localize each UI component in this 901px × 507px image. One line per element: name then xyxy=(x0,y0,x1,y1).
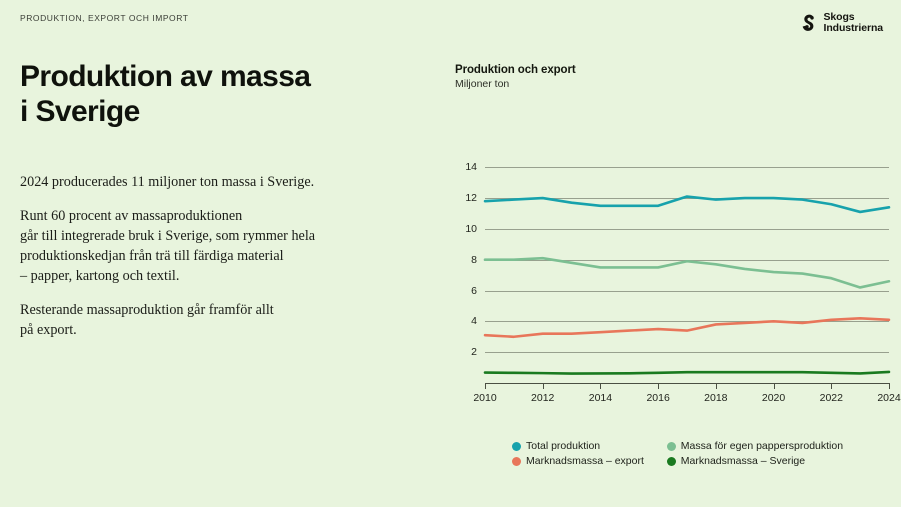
slide-eyebrow-label: PRODUKTION, EXPORT OCH IMPORT xyxy=(20,13,189,23)
x-axis-tick xyxy=(831,383,832,389)
chart-line-series xyxy=(485,372,889,374)
x-axis-tick xyxy=(716,383,717,389)
x-axis-tick-label: 2010 xyxy=(473,392,496,404)
legend-color-dot-icon xyxy=(667,457,676,466)
legend-item[interactable]: Marknadsmassa – Sverige xyxy=(667,455,852,467)
x-axis-tick xyxy=(600,383,601,389)
y-axis-tick-label: 8 xyxy=(455,254,477,266)
x-axis-tick-label: 2014 xyxy=(589,392,612,404)
legend-item[interactable]: Marknadsmassa – export xyxy=(512,455,653,467)
x-axis-tick xyxy=(658,383,659,389)
body-copy: 2024 producerades 11 miljoner ton massa … xyxy=(20,172,420,340)
legend-item-label: Massa för egen pappersproduktion xyxy=(681,440,843,452)
chart-line-series xyxy=(485,258,889,287)
chart-x-axis: 20102012201420162018202020222024 xyxy=(485,383,889,413)
body-paragraph-3: Resterande massaproduktion går framför a… xyxy=(20,300,420,340)
x-axis-tick xyxy=(485,383,486,389)
legend-color-dot-icon xyxy=(512,457,521,466)
x-axis-tick-label: 2012 xyxy=(531,392,554,404)
body-paragraph-2: Runt 60 procent av massaproduktionen går… xyxy=(20,206,420,286)
x-axis-tick-label: 2016 xyxy=(646,392,669,404)
chart-series-layer xyxy=(485,158,889,383)
page-title: Produktion av massa i Sverige xyxy=(20,60,310,130)
x-axis-tick xyxy=(543,383,544,389)
chart-legend: Total produktionMassa för egen papperspr… xyxy=(512,440,852,467)
body-paragraph-1: 2024 producerades 11 miljoner ton massa … xyxy=(20,172,420,192)
legend-item[interactable]: Total produktion xyxy=(512,440,653,452)
brand-logo: Skogs Industrierna xyxy=(799,12,883,33)
chart-plot-area: 2468101214 xyxy=(455,158,889,383)
legend-item-label: Marknadsmassa – export xyxy=(526,455,644,467)
legend-color-dot-icon xyxy=(512,442,521,451)
x-axis-tick-label: 2018 xyxy=(704,392,727,404)
legend-item-label: Marknadsmassa – Sverige xyxy=(681,455,805,467)
y-axis-tick-label: 4 xyxy=(455,315,477,327)
x-axis-tick-label: 2024 xyxy=(877,392,900,404)
legend-item[interactable]: Massa för egen pappersproduktion xyxy=(667,440,852,452)
x-axis-line xyxy=(485,383,889,384)
skogsindustrierna-s-mark-icon xyxy=(799,12,820,33)
chart-line-series xyxy=(485,197,889,212)
y-axis-tick-label: 12 xyxy=(455,192,477,204)
chart-title: Produktion och export xyxy=(455,64,887,76)
y-axis-tick-label: 14 xyxy=(455,161,477,173)
x-axis-tick xyxy=(889,383,890,389)
brand-logo-line2: Industrierna xyxy=(824,23,883,34)
x-axis-tick-label: 2020 xyxy=(762,392,785,404)
y-axis-tick-label: 2 xyxy=(455,346,477,358)
slide-canvas: PRODUKTION, EXPORT OCH IMPORT Skogs Indu… xyxy=(0,0,901,507)
chart-subtitle: Miljoner ton xyxy=(455,78,887,90)
y-axis-tick-label: 6 xyxy=(455,285,477,297)
legend-item-label: Total produktion xyxy=(526,440,600,452)
x-axis-tick xyxy=(774,383,775,389)
chart-header: Produktion och export Miljoner ton xyxy=(455,64,887,90)
chart-line-series xyxy=(485,318,889,336)
x-axis-tick-label: 2022 xyxy=(820,392,843,404)
y-axis-tick-label: 10 xyxy=(455,223,477,235)
brand-logo-text: Skogs Industrierna xyxy=(824,12,883,33)
legend-color-dot-icon xyxy=(667,442,676,451)
